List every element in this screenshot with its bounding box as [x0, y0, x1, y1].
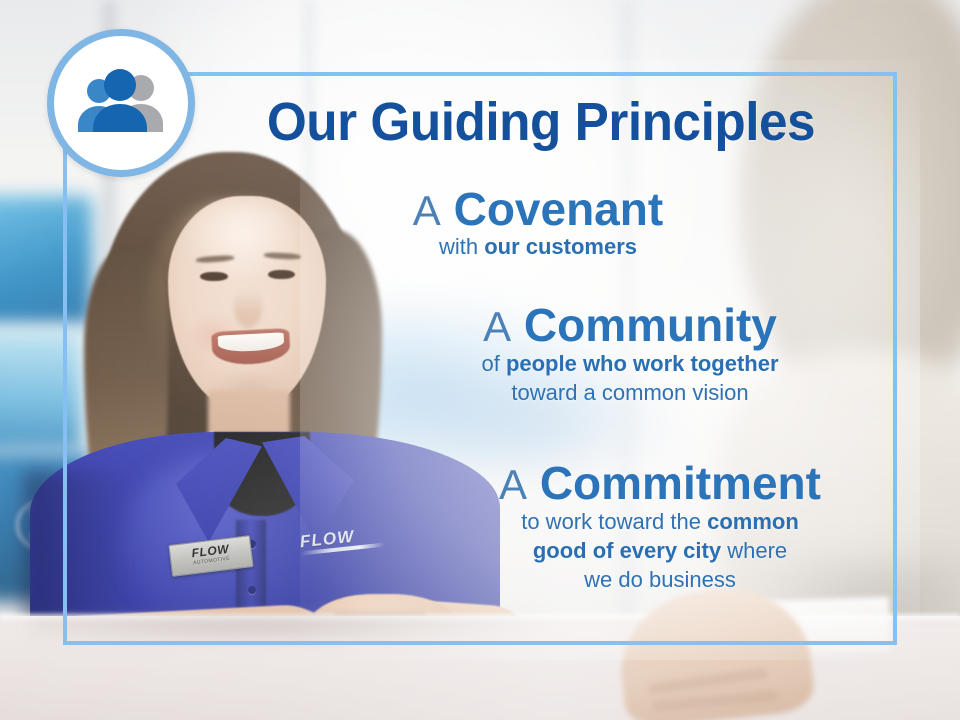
principle-article: A [499, 461, 527, 508]
guiding-principles-poster: FLOW FLOW AUTOMOTIVE [0, 0, 960, 720]
principle-title: A Covenant [258, 186, 818, 233]
principle-keyword: Community [524, 299, 777, 351]
eye [268, 270, 295, 279]
plain-text: with [439, 234, 484, 259]
emphasis-text: people who work together [506, 351, 779, 376]
people-group-icon [71, 68, 171, 138]
principle-covenant: A Covenant with our customers [258, 186, 818, 262]
page-title: Our Guiding Principles [223, 95, 860, 149]
shirt-button [248, 586, 256, 594]
principle-keyword: Covenant [454, 183, 664, 235]
desk-shadow [30, 616, 550, 642]
principle-commitment: A Commitment to work toward the commongo… [420, 460, 900, 594]
emphasis-text: our customers [484, 234, 637, 259]
plain-text: toward a common vision [511, 380, 748, 405]
principle-community: A Community of people who work togethert… [380, 302, 880, 407]
eye [200, 272, 228, 281]
nose [234, 288, 262, 328]
principle-article: A [413, 187, 441, 234]
principle-description: with our customers [258, 233, 818, 262]
plain-text: where [721, 538, 787, 563]
plain-text: of [481, 351, 505, 376]
principle-article: A [483, 303, 511, 350]
principle-description: to work toward the commongood of every c… [420, 507, 900, 594]
principle-description: of people who work togethertoward a comm… [380, 349, 880, 407]
emphasis-text: good of every city [533, 538, 721, 563]
principle-title: A Commitment [420, 460, 900, 507]
principle-title: A Community [380, 302, 880, 349]
plain-text: to work toward the [521, 509, 707, 534]
principle-keyword: Commitment [540, 457, 821, 509]
plain-text: we do business [584, 567, 736, 592]
emphasis-text: common [707, 509, 799, 534]
people-group-badge [47, 29, 195, 177]
